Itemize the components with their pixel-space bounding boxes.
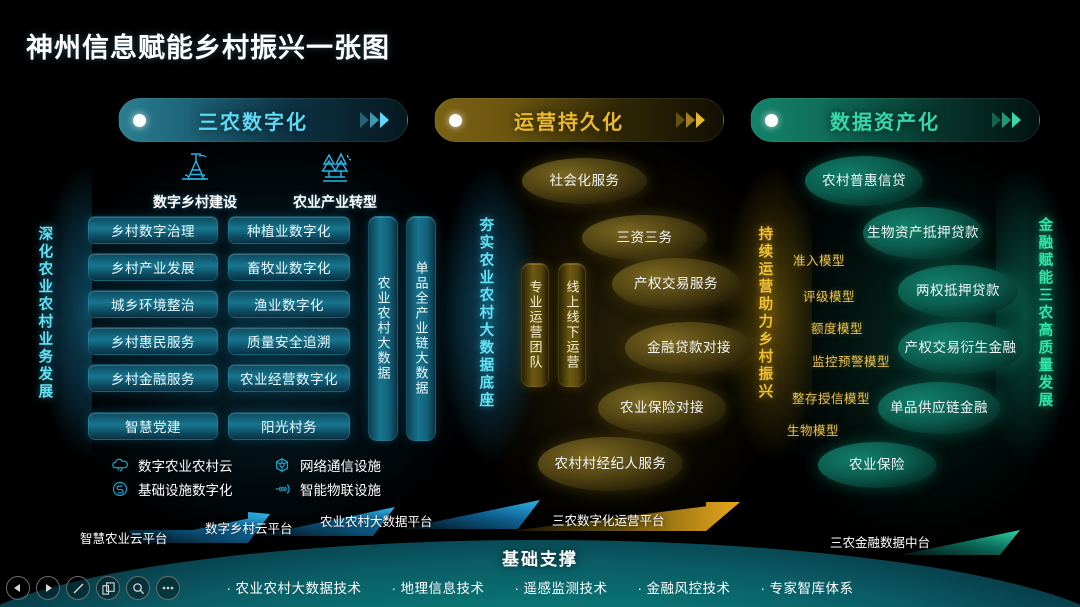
footnote-iot-label: 智能物联设施 <box>300 479 381 499</box>
previous-icon[interactable] <box>6 576 30 600</box>
ellipse-col2-1[interactable]: 社会化服务 <box>522 158 647 204</box>
chip-col1-left-5[interactable]: 乡村金融服务 <box>88 364 218 392</box>
chip-col1-left-2[interactable]: 乡村产业发展 <box>88 253 218 281</box>
search-icon[interactable] <box>126 576 150 600</box>
side-label-right: 金融赋能三农高质量发展 <box>996 148 1080 478</box>
side-label-left: 深化农业农村业务发展 <box>0 148 92 478</box>
platform-arrow-4-label: 三农数字化运营平台 <box>552 510 665 529</box>
model-label-3: 额度模型 <box>811 318 863 337</box>
network-node-icon <box>272 455 292 475</box>
chip-col1-right-3[interactable]: 渔业数字化 <box>228 290 350 318</box>
ellipse-col3-2[interactable]: 生物资产抵押贷款 <box>863 207 983 259</box>
vbar-ops-team-label: 专业运营团队 <box>526 280 545 370</box>
platform-arrow-2-label: 数字乡村云平台 <box>205 518 293 537</box>
ellipse-col2-5[interactable]: 农业保险对接 <box>598 382 726 434</box>
pen-icon[interactable] <box>66 576 90 600</box>
footnote-infrastructure[interactable]: 基础设施数字化 <box>110 479 233 499</box>
base-support-title: 基础支撑 <box>0 545 1080 570</box>
footnote-network[interactable]: 网络通信设施 <box>272 455 381 475</box>
chip-col1-right-2[interactable]: 畜牧业数字化 <box>228 253 350 281</box>
chip-col1-left-4[interactable]: 乡村惠民服务 <box>88 327 218 355</box>
column-header-data[interactable]: 数据资产化 <box>750 98 1040 142</box>
bullet-dot-icon <box>133 114 146 127</box>
base-item-5: 专家智库体系 <box>761 577 854 597</box>
chip-col1-right-extra[interactable]: 阳光村务 <box>228 412 350 440</box>
model-label-5: 整存授信模型 <box>792 388 870 407</box>
infographic-canvas: 神州信息赋能乡村振兴一张图 深化农业农村业务发展 夯实农业农村大数据底座 持续运… <box>0 0 1080 607</box>
model-label-4: 监控预警模型 <box>812 351 890 370</box>
model-label-2: 评级模型 <box>803 286 855 305</box>
base-item-3: 遥感监测技术 <box>515 577 608 597</box>
model-label-1: 准入模型 <box>793 250 845 269</box>
vbar-agri-bigdata[interactable]: 农业农村大数据 <box>368 216 398 441</box>
footnote-infrastructure-label: 基础设施数字化 <box>138 479 233 499</box>
footnote-iot[interactable]: 智能物联设施 <box>272 479 381 499</box>
column-header-digital-label: 三农数字化 <box>146 106 360 135</box>
chip-col1-right-4[interactable]: 质量安全追溯 <box>228 327 350 355</box>
vbar-agri-bigdata-label: 农业农村大数据 <box>374 276 393 381</box>
footnote-cloud-label: 数字农业农村云 <box>138 455 233 475</box>
chevron-right-icon <box>992 112 1025 128</box>
ellipse-col3-6[interactable]: 农业保险 <box>818 442 936 488</box>
side-label-right-text: 金融赋能三农高质量发展 <box>1036 217 1053 410</box>
side-label-mid-right-text: 持续运营助力乡村振兴 <box>756 226 773 401</box>
infrastructure-icon <box>110 479 130 499</box>
column-header-data-label: 数据资产化 <box>778 106 992 135</box>
chevron-right-icon <box>676 112 709 128</box>
model-label-6: 生物模型 <box>787 420 839 439</box>
vbar-chain-bigdata-label: 单品全产业链大数据 <box>412 261 431 396</box>
ellipse-col3-1[interactable]: 农村普惠信贷 <box>805 156 923 206</box>
bullet-dot-icon <box>765 114 778 127</box>
base-item-2: 地理信息技术 <box>392 577 485 597</box>
side-label-mid-left-text: 夯实农业农村大数据底座 <box>477 217 494 410</box>
side-label-mid-left: 夯实农业农村大数据底座 <box>437 148 533 478</box>
chip-col1-left-3[interactable]: 城乡环境整治 <box>88 290 218 318</box>
footnote-network-label: 网络通信设施 <box>300 455 381 475</box>
iot-signal-icon <box>272 479 292 499</box>
vbar-ops-team[interactable]: 专业运营团队 <box>521 263 549 387</box>
column-header-operation[interactable]: 运营持久化 <box>434 98 724 142</box>
chip-col1-right-1[interactable]: 种植业数字化 <box>228 216 350 244</box>
head-industry-transform-label: 农业产业转型 <box>275 192 395 212</box>
vbar-online-offline-label: 线上线下运营 <box>563 280 582 370</box>
head-digital-village: 数字乡村建设 <box>135 146 255 212</box>
more-icon[interactable] <box>156 576 180 600</box>
side-label-left-text: 深化农业农村业务发展 <box>36 226 53 401</box>
ellipse-col3-5[interactable]: 单品供应链金融 <box>878 382 1000 434</box>
platform-arrow-3-label: 农业农村大数据平台 <box>320 511 433 530</box>
chip-col1-left-extra[interactable]: 智慧党建 <box>88 412 218 440</box>
ellipse-col2-3[interactable]: 产权交易服务 <box>612 258 740 310</box>
player-toolbar[interactable] <box>6 576 180 600</box>
page-title: 神州信息赋能乡村振兴一张图 <box>26 26 390 65</box>
ellipse-col2-2[interactable]: 三资三务 <box>582 215 707 261</box>
footnote-cloud[interactable]: 数字农业农村云 <box>110 455 233 475</box>
head-digital-village-label: 数字乡村建设 <box>135 192 255 212</box>
base-item-1: 农业农村大数据技术 <box>227 577 362 597</box>
column-header-operation-label: 运营持久化 <box>462 106 676 135</box>
ellipse-col2-6[interactable]: 农村村经纪人服务 <box>538 437 683 491</box>
next-icon[interactable] <box>36 576 60 600</box>
village-tower-icon <box>135 146 255 188</box>
platform-arrow-4[interactable]: 三农数字化运营平台 <box>510 502 740 532</box>
chip-col1-left-1[interactable]: 乡村数字治理 <box>88 216 218 244</box>
chip-col1-right-5[interactable]: 农业经营数字化 <box>228 364 350 392</box>
bullet-dot-icon <box>449 114 462 127</box>
vbar-online-offline[interactable]: 线上线下运营 <box>558 263 586 387</box>
head-industry-transform: 农业产业转型 <box>275 146 395 212</box>
layout-icon[interactable] <box>96 576 120 600</box>
ellipse-col3-3[interactable]: 两权抵押贷款 <box>898 265 1018 317</box>
chevron-right-icon <box>360 112 393 128</box>
ellipse-col3-4[interactable]: 产权交易衍生金融 <box>898 322 1023 374</box>
column-header-digital[interactable]: 三农数字化 <box>118 98 408 142</box>
ellipse-col2-4[interactable]: 金融贷款对接 <box>625 322 753 374</box>
vbar-chain-bigdata[interactable]: 单品全产业链大数据 <box>406 216 436 441</box>
cloud-data-icon <box>110 455 130 475</box>
forest-trees-icon <box>275 146 395 188</box>
base-item-4: 金融风控技术 <box>638 577 731 597</box>
